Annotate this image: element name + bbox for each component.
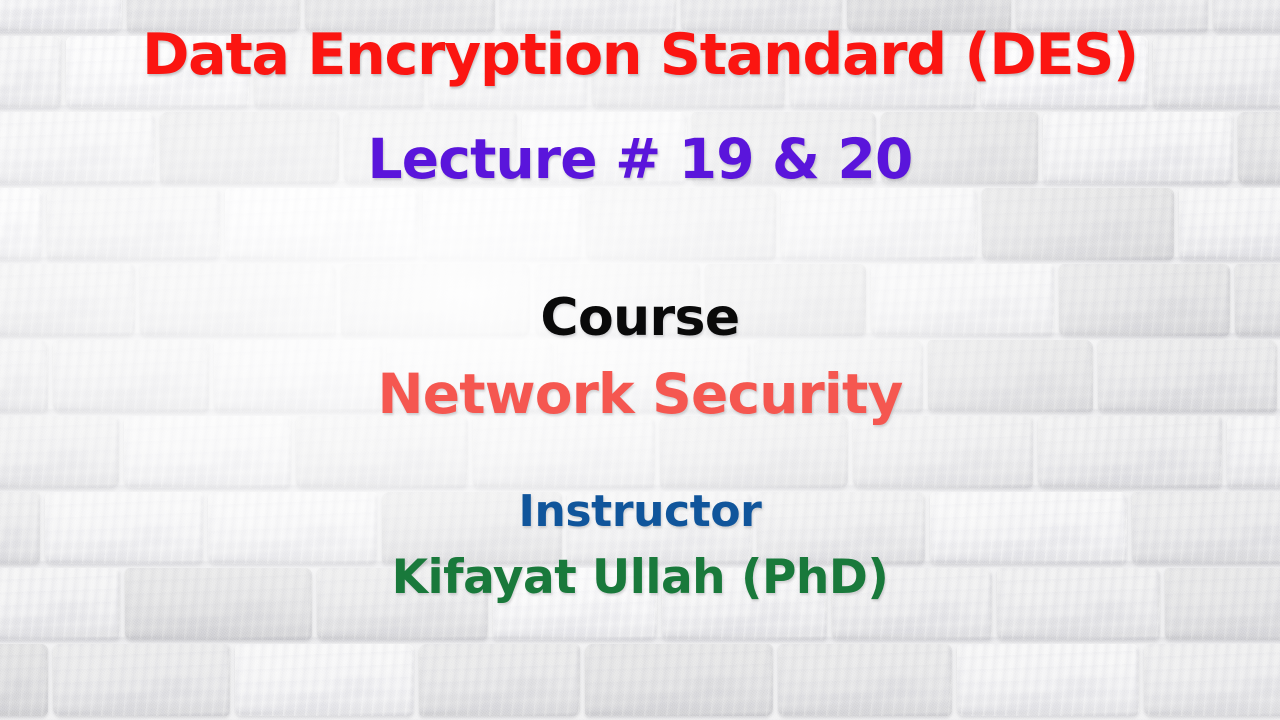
course-name: Network Security	[0, 367, 1280, 422]
instructor-name: Kifayat Ullah (PhD)	[0, 554, 1280, 601]
slide-content: Data Encryption Standard (DES) Lecture #…	[0, 0, 1280, 720]
slide-title: Data Encryption Standard (DES)	[0, 27, 1280, 84]
lecture-number: Lecture # 19 & 20	[0, 132, 1280, 187]
instructor-label: Instructor	[0, 490, 1280, 534]
lecture-title-slide: Data Encryption Standard (DES) Lecture #…	[0, 0, 1280, 720]
course-label: Course	[0, 292, 1280, 344]
